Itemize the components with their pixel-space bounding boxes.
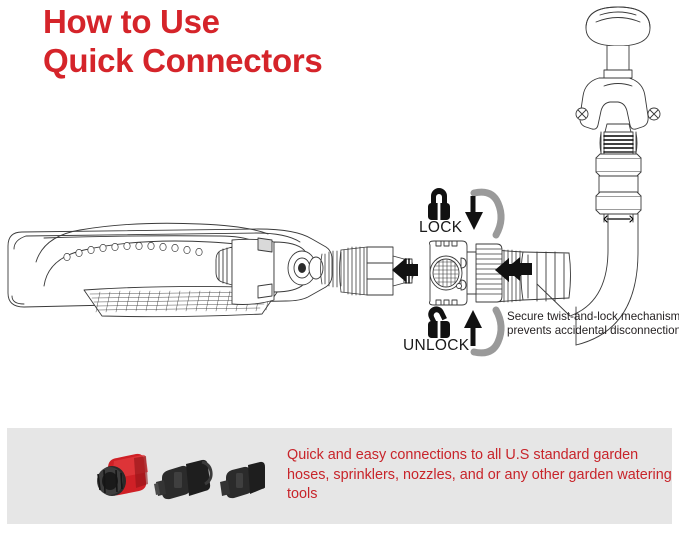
twist-lock-caption: Secure twist-and-lock mechanism prevents… (507, 310, 679, 339)
curved-arrow-up-icon (464, 310, 501, 353)
product-connector-red-band (97, 454, 148, 496)
hose-coupling-nut (596, 154, 641, 222)
hose-bib-faucet (576, 7, 660, 154)
quick-connector-coupler (430, 241, 503, 305)
unlock-label: UNLOCK (403, 337, 469, 355)
quick-connector-assembly-diagram (0, 0, 679, 420)
curved-arrow-down-icon (465, 192, 501, 235)
infographic-canvas: How to Use Quick Connectors (0, 0, 679, 536)
oscillating-sprinkler (8, 223, 332, 316)
padlock-closed-icon (428, 188, 450, 220)
product-connector-black-large (154, 460, 211, 499)
product-connector-black-small (220, 462, 265, 498)
padlock-open-icon (426, 304, 450, 338)
banner-marketing-text: Quick and easy connections to all U.S st… (287, 446, 677, 505)
lock-label: LOCK (419, 219, 462, 237)
product-photo-group (90, 444, 265, 512)
